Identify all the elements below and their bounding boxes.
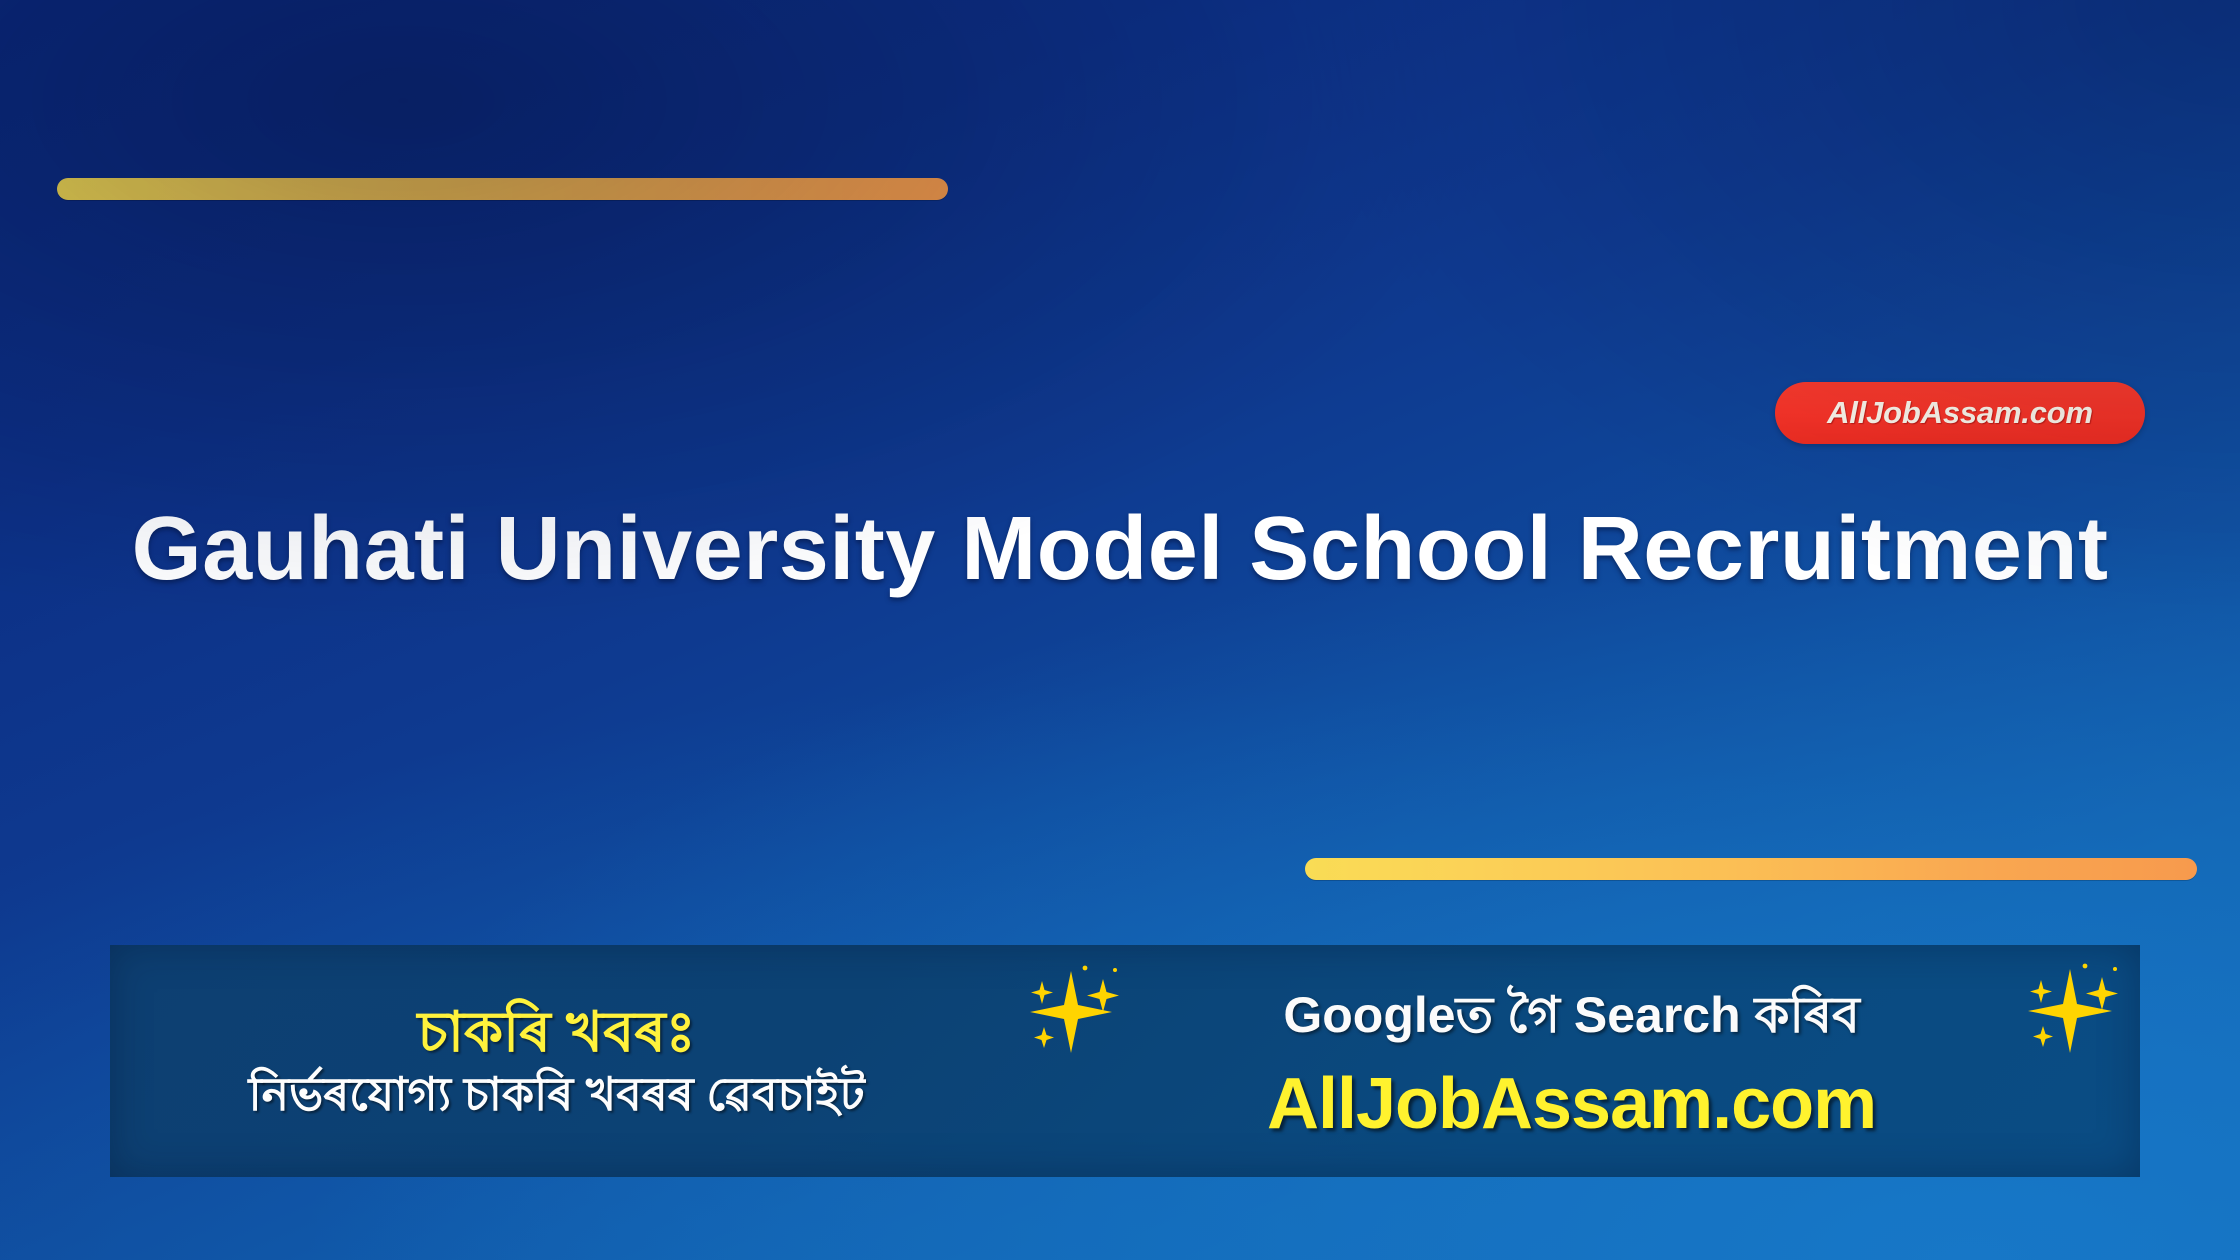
top-accent-bar xyxy=(57,178,948,200)
promo-banner-right: Googleত গৈ Search কৰিব AllJobAssam.com xyxy=(1003,945,2140,1177)
promo-left-subline: নিৰ্ভৰযোগ্য চাকৰি খবৰৰ ৱেবচাইট xyxy=(248,1068,864,1121)
watermark-badge-label: AllJobAssam.com xyxy=(1827,395,2093,431)
bottom-accent-bar xyxy=(1305,858,2197,880)
watermark-badge: AllJobAssam.com xyxy=(1775,382,2145,444)
promo-banner: চাকৰি খবৰঃ নিৰ্ভৰযোগ্য চাকৰি খবৰৰ ৱেবচাই… xyxy=(110,945,2140,1177)
promo-banner-left: চাকৰি খবৰঃ নিৰ্ভৰযোগ্য চাকৰি খবৰৰ ৱেবচাই… xyxy=(110,945,1003,1177)
sparkle-icon xyxy=(1011,953,1131,1073)
sparkle-icon xyxy=(2012,953,2132,1073)
poster-canvas: AllJobAssam.com Gauhati University Model… xyxy=(0,0,2240,1260)
page-title: Gauhati University Model School Recruitm… xyxy=(0,492,2240,607)
promo-left-headline: চাকৰি খবৰঃ xyxy=(418,1001,696,1063)
promo-right-website: AllJobAssam.com xyxy=(1267,1063,1876,1145)
promo-right-headline: Googleত গৈ Search কৰিব xyxy=(1283,978,1859,1061)
